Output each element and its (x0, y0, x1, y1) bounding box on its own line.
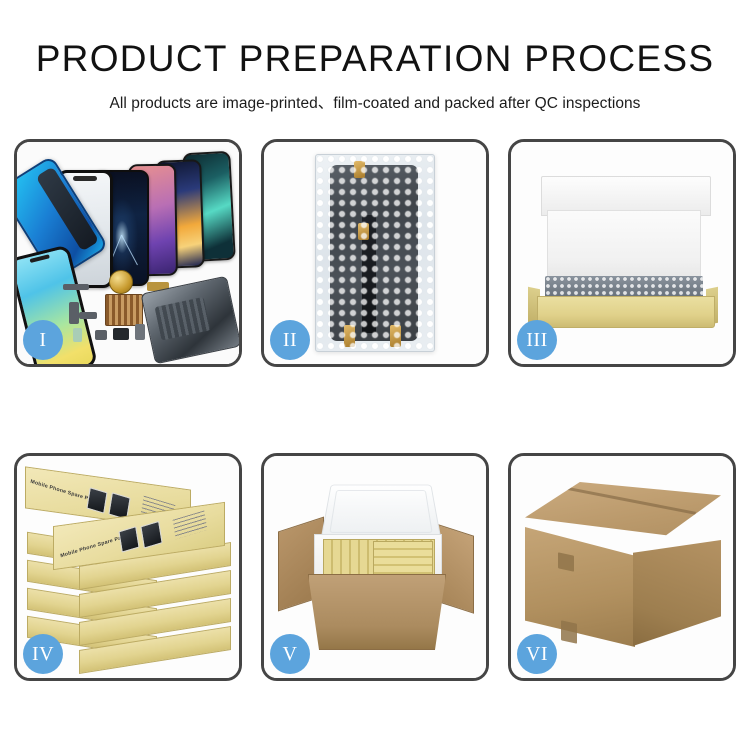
spare-part-button (95, 330, 107, 340)
sealed-shipping-carton (525, 482, 721, 654)
step-badge-6: VI (517, 634, 557, 674)
gold-contact-top (354, 161, 365, 178)
spare-part-speaker (63, 284, 89, 290)
carton-top-seam (553, 484, 696, 515)
bubble-wrap-bag (315, 154, 435, 352)
carton-tape-upper (558, 552, 574, 571)
gold-contact-bottom-left (344, 325, 355, 347)
spare-part-bracket (135, 324, 145, 340)
page-title: PRODUCT PREPARATION PROCESS (0, 36, 750, 82)
carton-right-face (633, 540, 721, 646)
box-front-panel (537, 296, 715, 328)
process-step-panel-6: VI (508, 453, 736, 681)
carton-tape-lower (561, 620, 577, 643)
process-step-panel-2: II (261, 139, 489, 367)
step-badge-4: IV (23, 634, 63, 674)
vibration-motor-part (109, 270, 133, 294)
carton-left-face (525, 527, 635, 647)
process-step-panel-3: III (508, 139, 736, 367)
header: PRODUCT PREPARATION PROCESS All products… (0, 36, 750, 113)
spare-part-battery-tab (113, 328, 129, 340)
process-step-panel-1: I (14, 139, 242, 367)
gold-contact-bottom-right (390, 325, 401, 347)
page-subtitle: All products are image-printed、film-coat… (0, 91, 750, 113)
step-badge-2: II (270, 320, 310, 360)
open-shipping-carton (278, 480, 474, 656)
white-foam-sheet (547, 210, 701, 282)
process-steps-grid: I II (14, 139, 736, 681)
step-badge-1: I (23, 320, 63, 360)
spare-part-connector (69, 302, 79, 324)
step-badge-3: III (517, 320, 557, 360)
step-badge-5: V (270, 634, 310, 674)
spare-part-sim-tray (73, 328, 82, 342)
phone-notch (73, 176, 97, 181)
product-preparation-process-page: PRODUCT PREPARATION PROCESS All products… (0, 0, 750, 750)
process-step-panel-4: Mobile Phone Spare Parts Mobile Phone Sp… (14, 453, 242, 681)
chip-component (105, 294, 143, 326)
open-kraft-box (527, 176, 719, 334)
gold-contact-mid (358, 223, 369, 240)
spare-part-cable (79, 312, 97, 319)
process-step-panel-5: V (261, 453, 489, 681)
carton-body (308, 574, 446, 650)
foam-box-lid (320, 485, 441, 541)
